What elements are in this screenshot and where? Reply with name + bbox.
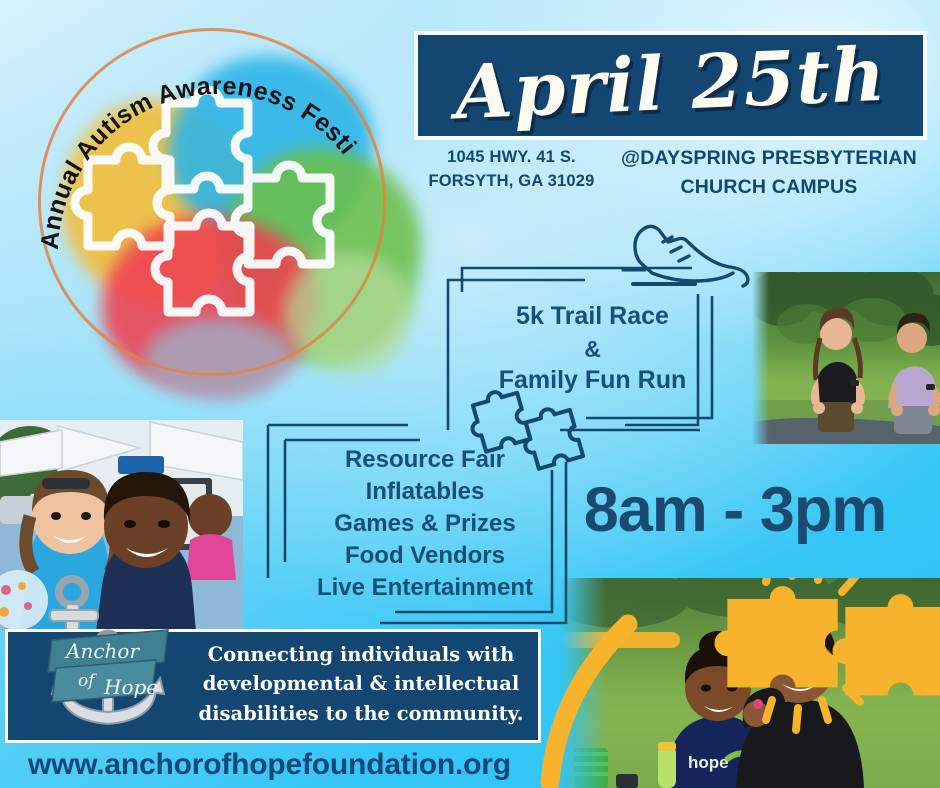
race-line-1: 5k Trail Race (455, 300, 730, 334)
website-url[interactable]: www.anchorofhopefoundation.org (28, 748, 548, 782)
venue-block: @DAYSPRING PRESBYTERIAN CHURCH CAMPUS (600, 144, 938, 203)
ribbon-line-2: of (78, 671, 97, 691)
photo-boy-flexing-at-picnic: hope (560, 578, 940, 788)
venue-line-2: CHURCH CAMPUS (600, 173, 938, 202)
ribbon-banner: Anchor of Hope (48, 630, 168, 702)
mission-line-3: disabilities to the community. (196, 699, 526, 728)
race-ampersand: & (455, 334, 730, 365)
ribbon-line-1: Anchor (64, 639, 140, 663)
anchor-of-hope-logo: Anchor of Hope (30, 622, 190, 742)
mission-line-1: Connecting individuals with (196, 640, 526, 669)
race-block: 5k Trail Race & Family Fun Run (455, 300, 730, 398)
date-label: April 25th (416, 15, 926, 152)
festival-logo: Annual Autism Awareness Festival (16, 8, 406, 396)
race-line-2: Family Fun Run (455, 364, 730, 398)
mission-line-2: developmental & intellectual (196, 669, 526, 698)
photo-two-women-running-trail (752, 272, 940, 444)
mission-statement: Connecting individuals with developmenta… (196, 640, 526, 728)
svg-text:hope: hope (688, 753, 729, 772)
activity-item: Games & Prizes (275, 508, 575, 540)
address-line-2: FORSYTH, GA 31029 (424, 170, 599, 194)
venue-line-1: @DAYSPRING PRESBYTERIAN (600, 144, 938, 173)
activity-item: Resource Fair (275, 444, 575, 476)
address-line-1: 1045 HWY. 41 S. (424, 146, 599, 170)
event-time: 8am - 3pm (580, 474, 890, 546)
activity-item: Inflatables (275, 476, 575, 508)
activity-item: Live Entertainment (275, 572, 575, 604)
ribbon-line-3: Hope (103, 675, 158, 699)
photo-festival-volunteers-selfie (0, 420, 243, 630)
logo-ring (38, 28, 386, 376)
address-block: 1045 HWY. 41 S. FORSYTH, GA 31029 (424, 146, 599, 194)
activities-list: Resource Fair Inflatables Games & Prizes… (275, 444, 575, 604)
activity-item: Food Vendors (275, 540, 575, 572)
event-flyer: Annual Autism Awareness Festival April 2… (0, 0, 940, 788)
running-shoe-icon (623, 226, 748, 286)
